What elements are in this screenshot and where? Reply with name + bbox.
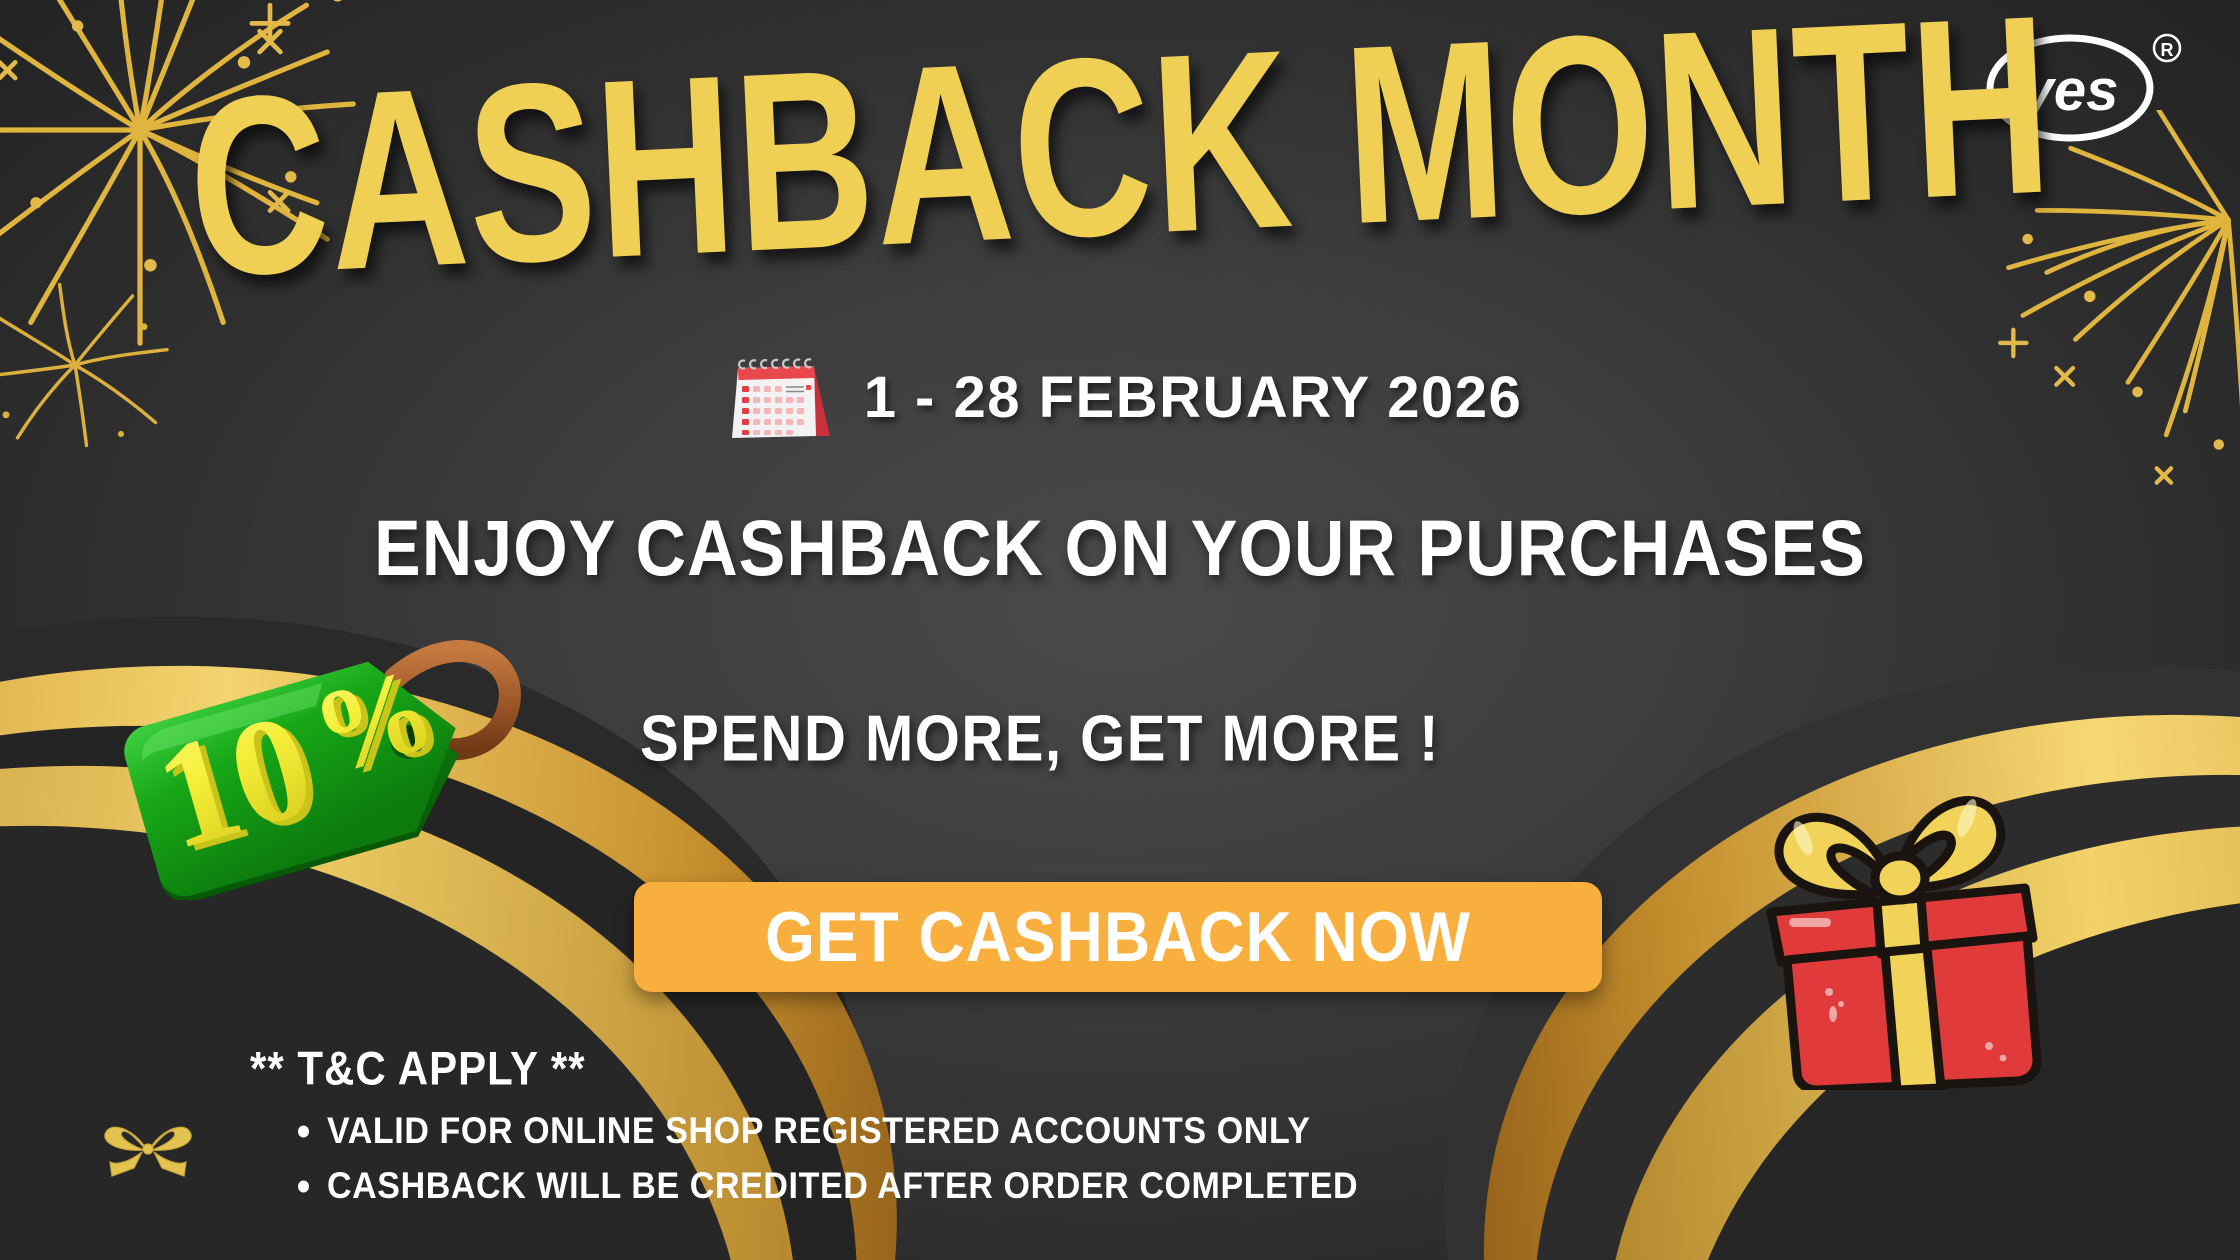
tnc-list: VALID FOR ONLINE SHOP REGISTERED ACCOUNT… bbox=[250, 1112, 1450, 1206]
list-item: CASHBACK WILL BE CREDITED AFTER ORDER CO… bbox=[298, 1165, 1450, 1208]
promo-banner: yes R CASHBACK MONTH bbox=[0, 0, 2240, 1260]
promo-date-text: 1 - 28 FEBRUARY 2026 bbox=[864, 364, 1523, 431]
calendar-icon bbox=[718, 352, 838, 442]
terms-and-conditions: ** T&C APPLY ** VALID FOR ONLINE SHOP RE… bbox=[250, 1042, 1450, 1222]
promo-headline: ENJOY CASHBACK ON YOUR PURCHASES bbox=[0, 503, 2240, 593]
get-cashback-now-button[interactable]: GET CASHBACK NOW bbox=[634, 882, 1602, 992]
tnc-title: ** T&C APPLY ** bbox=[250, 1042, 1450, 1096]
title-container: CASHBACK MONTH bbox=[0, 52, 2240, 243]
cta-label: GET CASHBACK NOW bbox=[765, 896, 1471, 977]
promo-subheadline: SPEND MORE, GET MORE ! bbox=[640, 701, 1440, 776]
promo-date-row: 1 - 28 FEBRUARY 2026 bbox=[0, 352, 2240, 442]
tnc-item-label: CASHBACK WILL BE CREDITED AFTER ORDER CO… bbox=[327, 1165, 1358, 1208]
gold-bow-icon bbox=[88, 1108, 208, 1188]
tnc-item-label: VALID FOR ONLINE SHOP REGISTERED ACCOUNT… bbox=[327, 1110, 1310, 1153]
gift-box-icon bbox=[1745, 760, 2055, 1090]
list-item: VALID FOR ONLINE SHOP REGISTERED ACCOUNT… bbox=[298, 1110, 1450, 1153]
price-tag-icon: 10 10 % % bbox=[95, 600, 555, 900]
bullet-icon bbox=[298, 1180, 309, 1192]
bullet-icon bbox=[298, 1125, 309, 1137]
page-title: CASHBACK MONTH bbox=[184, 0, 2055, 307]
